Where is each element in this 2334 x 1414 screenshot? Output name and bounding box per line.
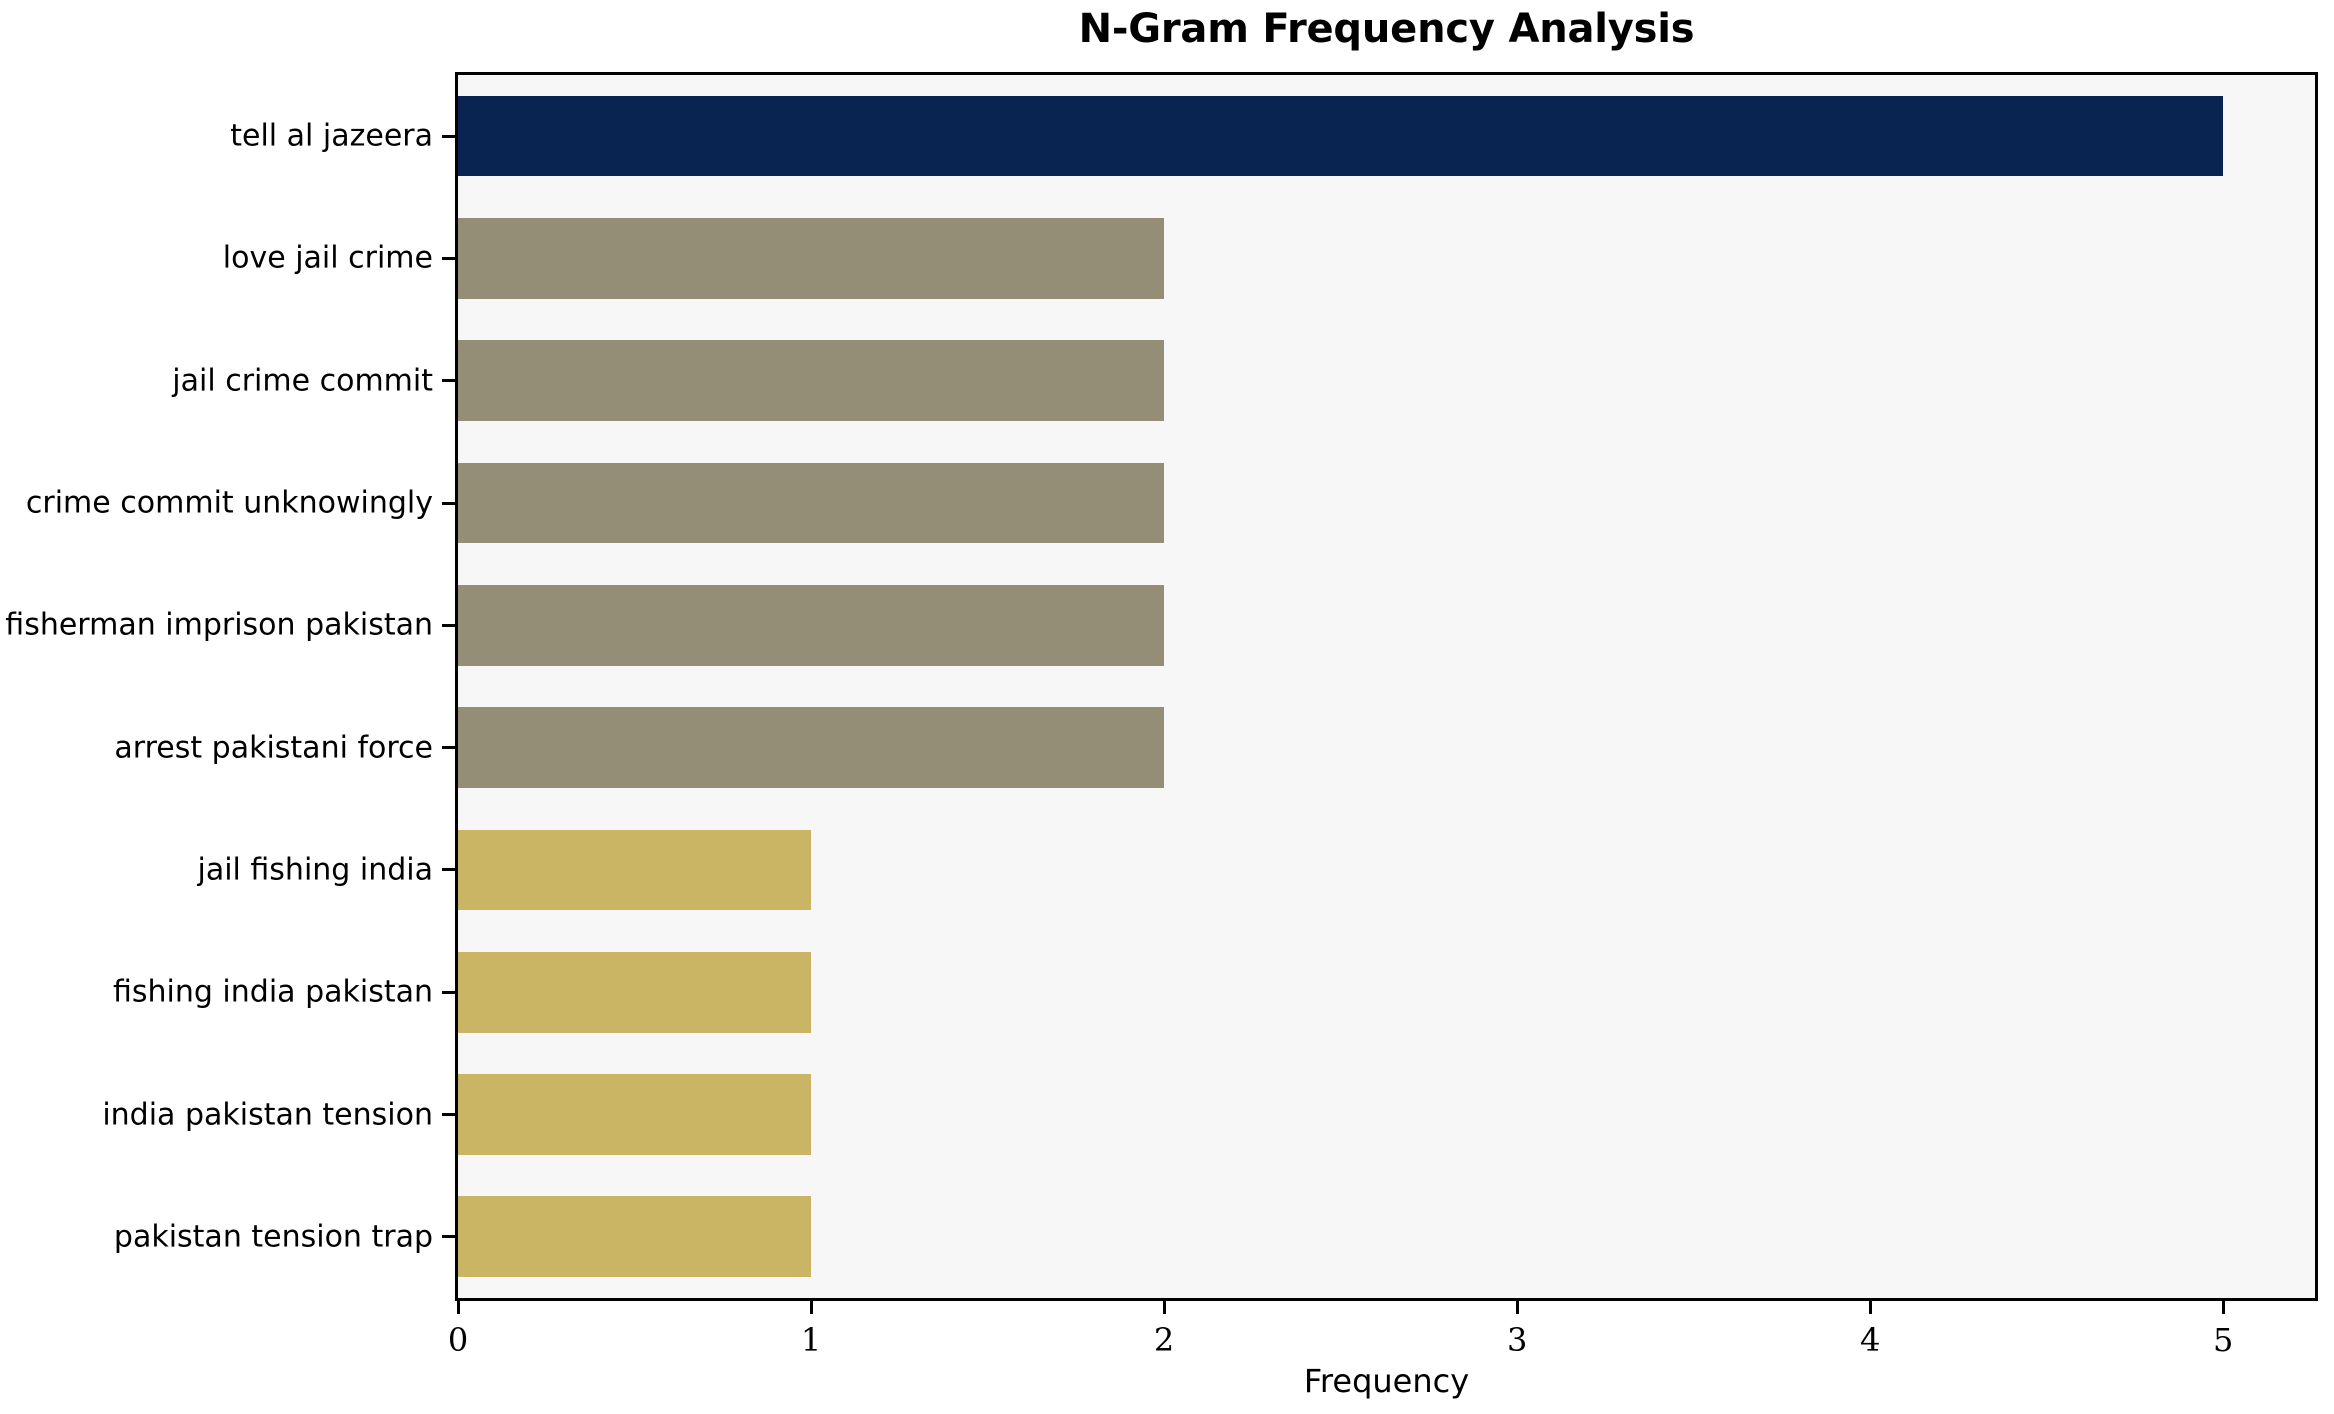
plot-area [455,72,2318,1301]
x-tick-mark [1516,1301,1519,1314]
y-tick-mark [442,379,455,382]
y-tick-label: pakistan tension trap [0,1219,433,1254]
x-axis-title: Frequency [455,1362,2318,1400]
y-tick-mark [442,502,455,505]
y-tick-mark [442,135,455,138]
y-tick-mark [442,624,455,627]
x-tick-mark [810,1301,813,1314]
bar[interactable] [458,707,1164,788]
bar[interactable] [458,1074,811,1155]
bar[interactable] [458,340,1164,421]
y-tick-label: tell al jazeera [0,119,433,154]
bar[interactable] [458,463,1164,544]
x-tick-label: 3 [1507,1321,1527,1359]
x-tick-label: 4 [1860,1321,1880,1359]
y-tick-mark [442,991,455,994]
bar-row [458,931,2315,1053]
bar-row [458,809,2315,931]
bar[interactable] [458,952,811,1033]
y-tick-mark [442,1235,455,1238]
y-tick-label: jail crime commit [0,363,433,398]
y-tick-label: india pakistan tension [0,1097,433,1132]
y-tick-mark [442,868,455,871]
bar-row [458,442,2315,564]
bars-container [458,75,2315,1298]
bar-row [458,564,2315,686]
chart-figure: N-Gram Frequency Analysis tell al jazeer… [0,0,2334,1414]
bar-row [458,197,2315,319]
bar-row [458,75,2315,197]
x-tick-mark [2222,1301,2225,1314]
bar[interactable] [458,585,1164,666]
bar[interactable] [458,96,2223,177]
bar-row [458,1053,2315,1175]
y-tick-label: love jail crime [0,241,433,276]
bar[interactable] [458,1196,811,1277]
y-tick-label: arrest pakistani force [0,730,433,765]
y-tick-label: crime commit unknowingly [0,486,433,521]
x-tick-label: 1 [801,1321,821,1359]
y-tick-label: fishing india pakistan [0,975,433,1010]
bar-row [458,320,2315,442]
y-tick-label: jail fishing india [0,852,433,887]
x-tick-mark [1163,1301,1166,1314]
chart-title: N-Gram Frequency Analysis [455,4,2318,54]
x-tick-label: 2 [1154,1321,1174,1359]
y-tick-mark [442,1113,455,1116]
y-tick-label: fisherman imprison pakistan [0,608,433,643]
bar-row [458,687,2315,809]
x-tick-label: 5 [2213,1321,2233,1359]
bar-row [458,1176,2315,1298]
bar[interactable] [458,830,811,911]
x-tick-mark [457,1301,460,1314]
y-tick-mark [442,746,455,749]
y-tick-mark [442,257,455,260]
bar[interactable] [458,218,1164,299]
x-tick-label: 0 [448,1321,468,1359]
x-tick-mark [1869,1301,1872,1314]
